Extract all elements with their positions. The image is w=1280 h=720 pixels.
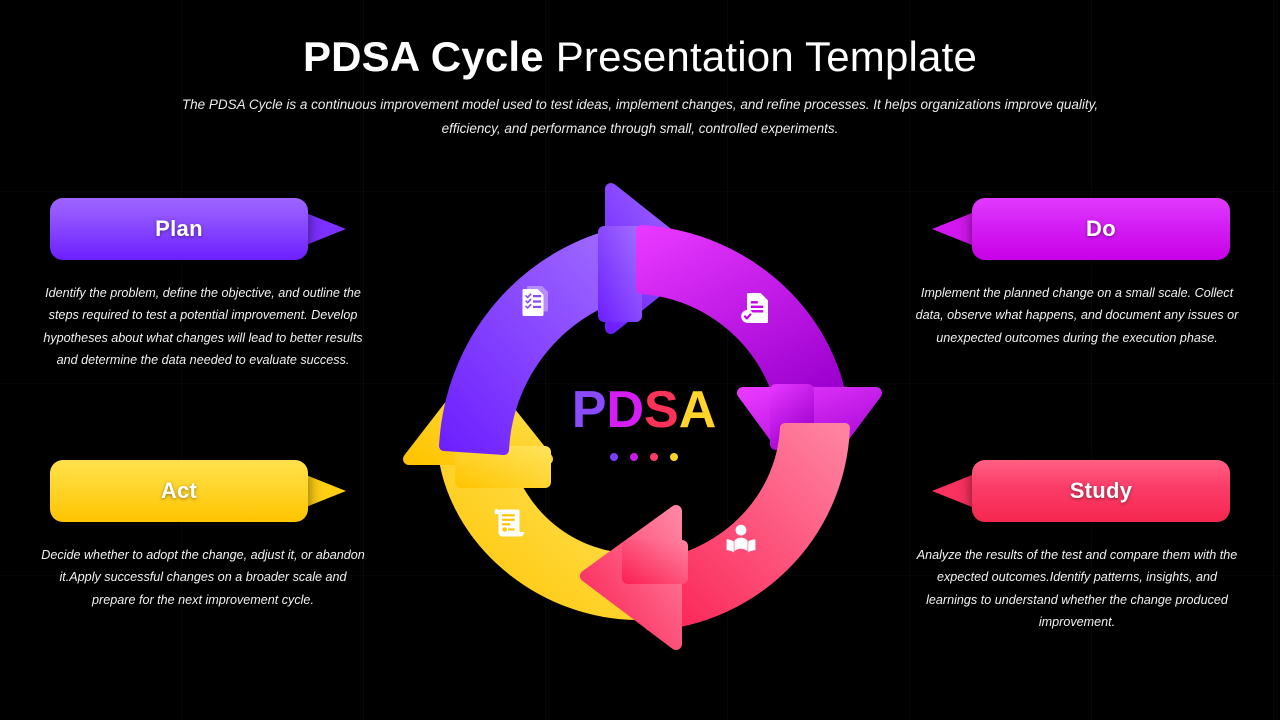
description-do: Implement the planned change on a small … bbox=[912, 282, 1242, 349]
title-strong: PDSA Cycle bbox=[303, 33, 544, 80]
banner-study[interactable]: Study bbox=[972, 460, 1230, 522]
panel-act[interactable]: Act Decide whether to adopt the change, … bbox=[38, 460, 368, 611]
study-arrow[interactable] bbox=[586, 428, 845, 644]
page-title: PDSA Cycle Presentation Template bbox=[0, 34, 1280, 79]
banner-act-wrap: Act bbox=[38, 460, 368, 522]
banner-study-label: Study bbox=[1070, 478, 1133, 504]
banner-do-label: Do bbox=[1086, 216, 1116, 242]
banner-plan[interactable]: Plan bbox=[50, 198, 308, 260]
banner-plan-tail bbox=[306, 213, 346, 245]
banner-do-wrap: Do bbox=[912, 198, 1242, 260]
slide-canvas: PDSA Cycle Presentation Template The PDS… bbox=[0, 0, 1280, 720]
pdsa-cycle-diagram: PDSA bbox=[398, 178, 890, 670]
panel-study[interactable]: Study Analyze the results of the test an… bbox=[912, 460, 1242, 634]
banner-plan-wrap: Plan bbox=[38, 198, 368, 260]
banner-plan-label: Plan bbox=[155, 216, 203, 242]
banner-study-tail bbox=[932, 475, 972, 507]
checklist-icon bbox=[518, 283, 554, 319]
description-study: Analyze the results of the test and comp… bbox=[912, 544, 1242, 634]
description-plan: Identify the problem, define the objecti… bbox=[38, 282, 368, 372]
panel-plan[interactable]: Plan Identify the problem, define the ob… bbox=[38, 198, 368, 372]
banner-study-wrap: Study bbox=[912, 460, 1242, 522]
title-light: Presentation Template bbox=[556, 33, 977, 80]
scroll-icon bbox=[491, 505, 527, 541]
page-subtitle: The PDSA Cycle is a continuous improveme… bbox=[160, 93, 1120, 140]
banner-do-tail bbox=[932, 213, 972, 245]
banner-do[interactable]: Do bbox=[972, 198, 1230, 260]
person-reading-icon bbox=[723, 522, 759, 558]
banner-act-tail bbox=[306, 475, 346, 507]
banner-act-label: Act bbox=[161, 478, 197, 504]
panel-do[interactable]: Do Implement the planned change on a sma… bbox=[912, 198, 1242, 349]
header: PDSA Cycle Presentation Template The PDS… bbox=[0, 34, 1280, 141]
description-act: Decide whether to adopt the change, adju… bbox=[38, 544, 368, 611]
banner-act[interactable]: Act bbox=[50, 460, 308, 522]
document-check-icon bbox=[738, 290, 774, 326]
